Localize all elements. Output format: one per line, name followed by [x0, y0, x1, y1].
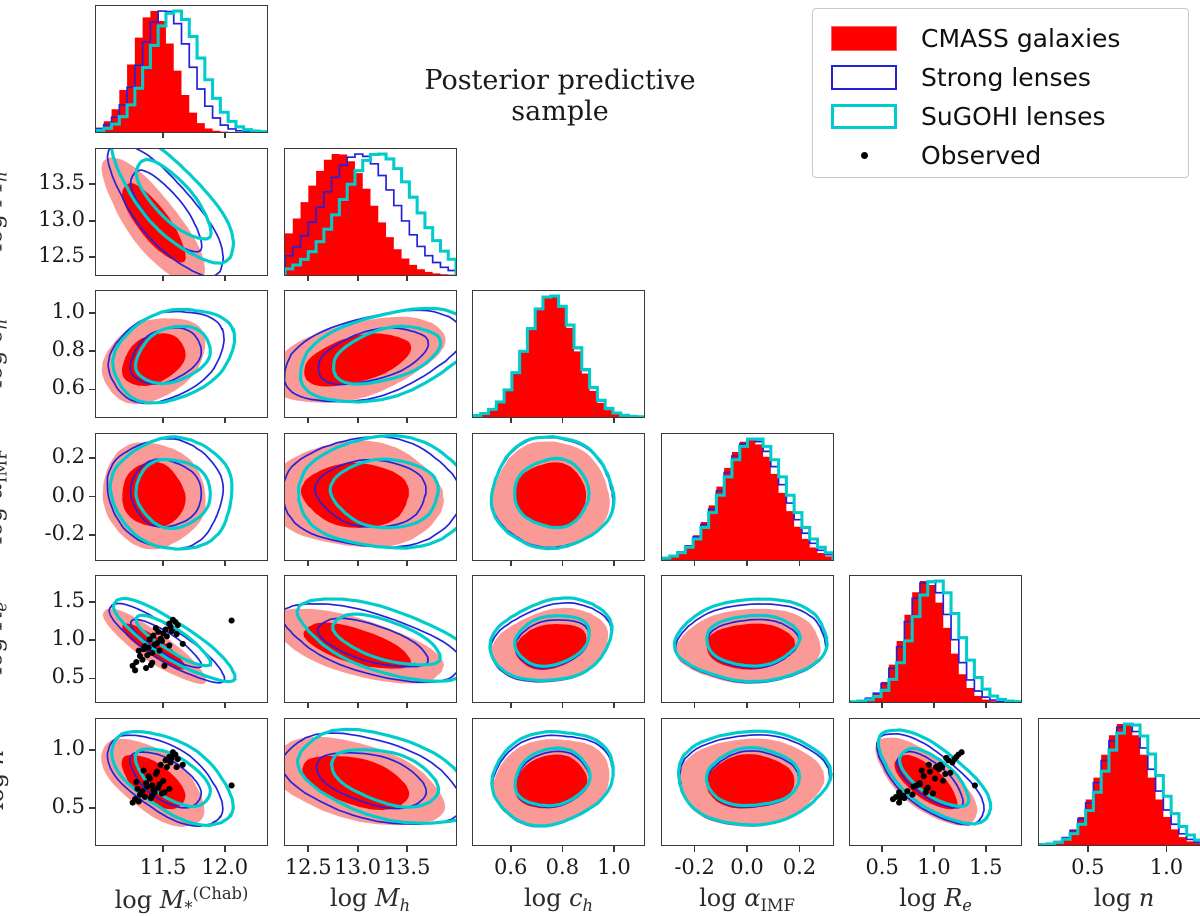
x-tick-mark: [162, 703, 164, 708]
x-tick-mark: [613, 846, 615, 852]
diagonal-panel-logMh: [284, 148, 457, 276]
x-axis-title-logn: log n: [1014, 884, 1200, 912]
x-tick-mark: [933, 703, 935, 708]
x-tick-mark: [799, 703, 801, 708]
y-tick-label: 13.5: [0, 170, 85, 194]
x-tick-label: 13.5: [367, 855, 447, 879]
x-tick-mark: [746, 846, 748, 852]
x-tick-mark: [224, 133, 226, 138]
x-tick-label: 1.0: [1126, 855, 1200, 879]
x-tick-mark: [406, 846, 408, 852]
x-tick-mark: [307, 846, 309, 852]
x-tick-mark: [746, 703, 748, 708]
x-tick-label: 0.2: [759, 855, 839, 879]
x-tick-mark: [162, 418, 164, 423]
legend-marker-point: [831, 143, 897, 168]
y-tick-mark: [89, 457, 95, 459]
y-axis-title-logn: log n: [0, 700, 9, 860]
joint-panel-logalphaIMF-vs-logMstar: [95, 433, 268, 561]
y-tick-label: 13.0: [0, 207, 85, 231]
x-axis-title-logalphaIMF: log αIMF: [637, 884, 857, 915]
y-tick-mark: [89, 678, 95, 680]
y-tick-label: 0.6: [0, 375, 85, 399]
y-tick-label: -0.2: [0, 521, 85, 545]
x-tick-label: 1.5: [946, 855, 1026, 879]
x-tick-mark: [562, 703, 564, 708]
x-tick-mark: [406, 703, 408, 708]
x-tick-mark: [881, 703, 883, 708]
legend-label: Strong lenses: [921, 63, 1091, 92]
diagonal-panel-logalphaIMF: [661, 433, 834, 561]
y-tick-mark: [89, 389, 95, 391]
x-tick-mark: [613, 418, 615, 423]
x-tick-mark: [307, 703, 309, 708]
y-tick-mark: [89, 350, 95, 352]
x-tick-mark: [406, 418, 408, 423]
diagonal-panel-logMstar: [95, 5, 268, 133]
legend-item-sugohi-lenses[interactable]: SuGOHI lenses: [813, 97, 1188, 136]
y-axis-title-logalphaIMF: log αIMF: [0, 416, 10, 576]
x-tick-mark: [694, 703, 696, 708]
joint-panel-logn-vs-logRe: [849, 718, 1022, 846]
joint-panel-logalphaIMF-vs-logMh: [284, 433, 457, 561]
x-tick-label: 1.0: [574, 855, 654, 879]
y-tick-label: 0.5: [0, 664, 85, 688]
y-tick-mark: [89, 534, 95, 536]
x-tick-mark: [613, 703, 615, 708]
x-tick-mark: [406, 276, 408, 281]
x-tick-mark: [881, 846, 883, 852]
y-tick-label: 12.5: [0, 243, 85, 267]
x-tick-label: 0.5: [1048, 855, 1128, 879]
y-tick-label: 1.5: [0, 588, 85, 612]
joint-panel-logn-vs-logMh: [284, 718, 457, 846]
y-axis-title-logRe: log Re: [0, 558, 10, 718]
x-tick-mark: [224, 561, 226, 566]
x-tick-mark: [162, 846, 164, 852]
y-tick-mark: [89, 639, 95, 641]
joint-panel-logn-vs-logch: [472, 718, 645, 846]
joint-panel-logalphaIMF-vs-logch: [472, 433, 645, 561]
x-tick-mark: [357, 703, 359, 708]
legend-item-observed[interactable]: Observed: [813, 136, 1188, 175]
y-tick-mark: [89, 496, 95, 498]
x-tick-mark: [694, 846, 696, 852]
x-tick-mark: [799, 561, 801, 566]
x-tick-mark: [307, 561, 309, 566]
x-tick-mark: [224, 418, 226, 423]
x-axis-title-logRe: log Re: [826, 884, 1046, 915]
x-tick-mark: [510, 846, 512, 852]
joint-panel-logRe-vs-logalphaIMF: [661, 575, 834, 703]
x-tick-mark: [224, 276, 226, 281]
x-tick-mark: [406, 561, 408, 566]
x-tick-mark: [613, 561, 615, 566]
x-tick-mark: [307, 276, 309, 281]
x-tick-mark: [162, 133, 164, 138]
x-tick-mark: [799, 846, 801, 852]
diagonal-panel-logn: [1038, 718, 1200, 846]
y-tick-label: 0.8: [0, 337, 85, 361]
y-tick-mark: [89, 256, 95, 258]
x-tick-mark: [357, 276, 359, 281]
x-tick-mark: [510, 561, 512, 566]
y-tick-mark: [89, 749, 95, 751]
x-tick-mark: [985, 703, 987, 708]
x-tick-mark: [307, 418, 309, 423]
y-tick-label: 0.0: [0, 483, 85, 507]
x-tick-mark: [985, 846, 987, 852]
y-tick-mark: [89, 312, 95, 314]
x-tick-mark: [1087, 846, 1089, 852]
legend-swatch-filled: [831, 26, 897, 51]
x-tick-mark: [1166, 846, 1168, 852]
legend-item-cmass-galaxies[interactable]: CMASS galaxies: [813, 19, 1188, 58]
y-tick-mark: [89, 220, 95, 222]
legend: CMASS galaxies Strong lenses SuGOHI lens…: [812, 8, 1189, 178]
x-tick-mark: [357, 418, 359, 423]
joint-panel-logn-vs-logalphaIMF: [661, 718, 834, 846]
joint-panel-logn-vs-logMstar: [95, 718, 268, 846]
legend-label: SuGOHI lenses: [921, 102, 1106, 131]
legend-label: CMASS galaxies: [921, 24, 1120, 53]
x-tick-mark: [562, 561, 564, 566]
x-tick-mark: [357, 846, 359, 852]
legend-label: Observed: [921, 141, 1041, 170]
y-tick-label: 1.0: [0, 299, 85, 323]
x-tick-mark: [357, 561, 359, 566]
x-tick-mark: [162, 276, 164, 281]
x-axis-title-logMstar: log M*(Chab): [72, 884, 292, 916]
y-tick-label: 0.2: [0, 444, 85, 468]
x-tick-mark: [224, 703, 226, 708]
y-tick-mark: [89, 183, 95, 185]
x-tick-mark: [510, 418, 512, 423]
diagonal-panel-logch: [472, 290, 645, 418]
x-tick-label: 12.0: [185, 855, 265, 879]
x-tick-mark: [224, 846, 226, 852]
x-tick-mark: [510, 703, 512, 708]
legend-swatch-outline: [831, 104, 897, 129]
x-tick-mark: [562, 846, 564, 852]
x-tick-mark: [562, 418, 564, 423]
joint-panel-logRe-vs-logch: [472, 575, 645, 703]
observed-dot-icon: [861, 152, 868, 159]
x-axis-title-logMh: log Mh: [260, 884, 480, 915]
legend-item-strong-lenses[interactable]: Strong lenses: [813, 58, 1188, 97]
legend-swatch-outline: [831, 65, 897, 90]
y-tick-label: 0.5: [0, 794, 85, 818]
y-tick-label: 1.0: [0, 736, 85, 760]
joint-panel-logch-vs-logMh: [284, 290, 457, 418]
x-tick-mark: [162, 561, 164, 566]
x-tick-mark: [694, 561, 696, 566]
joint-panel-logRe-vs-logMh: [284, 575, 457, 703]
y-tick-mark: [89, 807, 95, 809]
joint-panel-logRe-vs-logMstar: [95, 575, 268, 703]
y-axis-title-logch: log ch: [0, 273, 10, 433]
x-tick-mark: [933, 846, 935, 852]
diagonal-panel-logRe: [849, 575, 1022, 703]
joint-panel-logch-vs-logMstar: [95, 290, 268, 418]
x-axis-title-logch: log ch: [449, 884, 669, 915]
page-title: Posterior predictive sample: [400, 65, 720, 127]
joint-panel-logMh-vs-logMstar: [95, 148, 268, 276]
y-axis-title-logMh: log Mh: [0, 131, 10, 291]
y-tick-label: 1.0: [0, 626, 85, 650]
x-tick-mark: [746, 561, 748, 566]
y-tick-mark: [89, 601, 95, 603]
